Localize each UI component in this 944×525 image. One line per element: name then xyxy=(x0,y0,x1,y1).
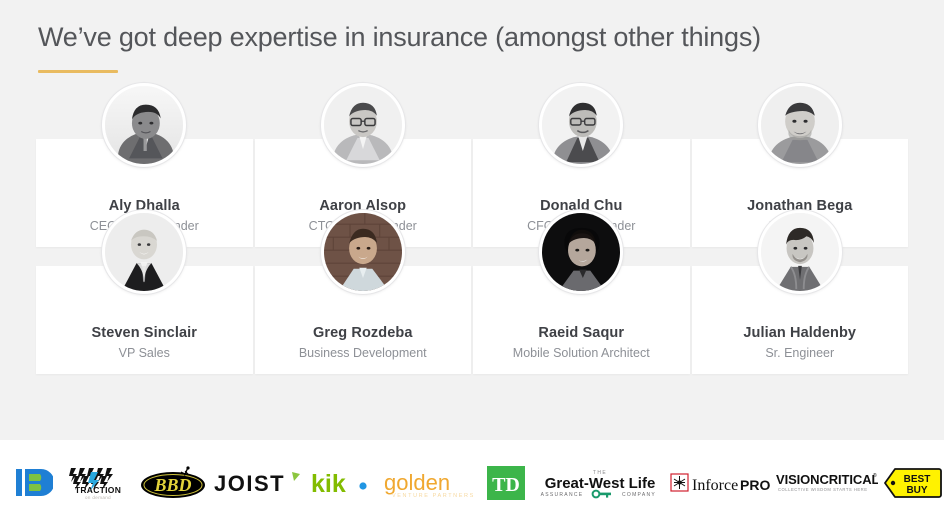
member-role: Mobile Solution Architect xyxy=(513,346,650,360)
title-accent-rule xyxy=(38,70,118,73)
avatar xyxy=(758,210,842,294)
avatar xyxy=(758,83,842,167)
svg-text:golden: golden xyxy=(384,470,450,495)
traction-tagline: on demand xyxy=(85,495,111,500)
team-member-card[interactable]: Steven Sinclair VP Sales xyxy=(36,266,253,374)
avatar xyxy=(539,210,623,294)
member-name: Julian Haldenby xyxy=(743,325,856,341)
kik-logo: kik xyxy=(306,460,382,506)
team-grid: Aly Dhalla CEO & Co-Founder Aa xyxy=(36,139,908,374)
great-west-life-logo: THE Great-West Life ASSURANCE COMPANY xyxy=(532,460,668,506)
page-title: We’ve got deep expertise in insurance (a… xyxy=(38,22,761,53)
slide-root: We’ve got deep expertise in insurance (a… xyxy=(0,0,944,525)
svg-text:BUY: BUY xyxy=(906,485,927,496)
svg-text:PRO: PRO xyxy=(740,477,770,493)
svg-text:COLLECTIVE WISDOM STARTS HERE: COLLECTIVE WISDOM STARTS HERE xyxy=(778,487,868,492)
slide-header: We’ve got deep expertise in insurance (a… xyxy=(38,22,761,73)
member-name: Greg Rozdeba xyxy=(313,325,413,341)
bbd-logo: BBD xyxy=(136,460,210,506)
svg-text:BBD: BBD xyxy=(153,475,191,495)
member-name: Raeid Saqur xyxy=(538,325,624,341)
svg-text:VISIONCRITICAL: VISIONCRITICAL xyxy=(776,472,878,487)
team-member-card[interactable]: Julian Haldenby Sr. Engineer xyxy=(692,266,909,374)
joist-logo: JOIST xyxy=(210,460,306,506)
member-role: VP Sales xyxy=(119,346,170,360)
ib-logo xyxy=(8,460,60,506)
svg-text:Inforce: Inforce xyxy=(692,477,738,494)
svg-text:Great-West Life: Great-West Life xyxy=(545,475,656,492)
avatar xyxy=(321,83,405,167)
avatar xyxy=(102,210,186,294)
td-logo: TD xyxy=(480,460,532,506)
avatar xyxy=(321,210,405,294)
svg-text:VENTURE PARTNERS: VENTURE PARTNERS xyxy=(392,493,475,499)
svg-text:TRACTION: TRACTION xyxy=(75,485,121,495)
svg-text:COMPANY: COMPANY xyxy=(622,492,656,498)
avatar xyxy=(102,83,186,167)
golden-logo: golden VENTURE PARTNERS xyxy=(382,460,480,506)
svg-text:®: ® xyxy=(873,472,877,479)
traction-logo: TRACTION on demand xyxy=(60,460,136,506)
team-member-card[interactable]: Greg Rozdeba Business Development xyxy=(255,266,472,374)
svg-text:ASSURANCE: ASSURANCE xyxy=(541,492,584,498)
best-buy-logo: BEST BUY xyxy=(880,460,944,506)
avatar xyxy=(539,83,623,167)
member-name: Steven Sinclair xyxy=(92,325,197,341)
member-role: Business Development xyxy=(299,346,427,360)
inforcepro-logo: Inforce PRO xyxy=(668,460,772,506)
partner-logo-bar: TRACTION on demand BBD JOIST kik xyxy=(0,440,944,525)
svg-text:JOIST: JOIST xyxy=(214,471,285,496)
svg-text:TD: TD xyxy=(492,474,520,496)
member-role: Sr. Engineer xyxy=(765,346,834,360)
team-member-card[interactable]: Raeid Saqur Mobile Solution Architect xyxy=(473,266,690,374)
visioncritical-logo: VISIONCRITICAL ® COLLECTIVE WISDOM START… xyxy=(772,460,880,506)
svg-text:kik: kik xyxy=(311,470,346,498)
svg-text:BEST: BEST xyxy=(904,474,931,485)
